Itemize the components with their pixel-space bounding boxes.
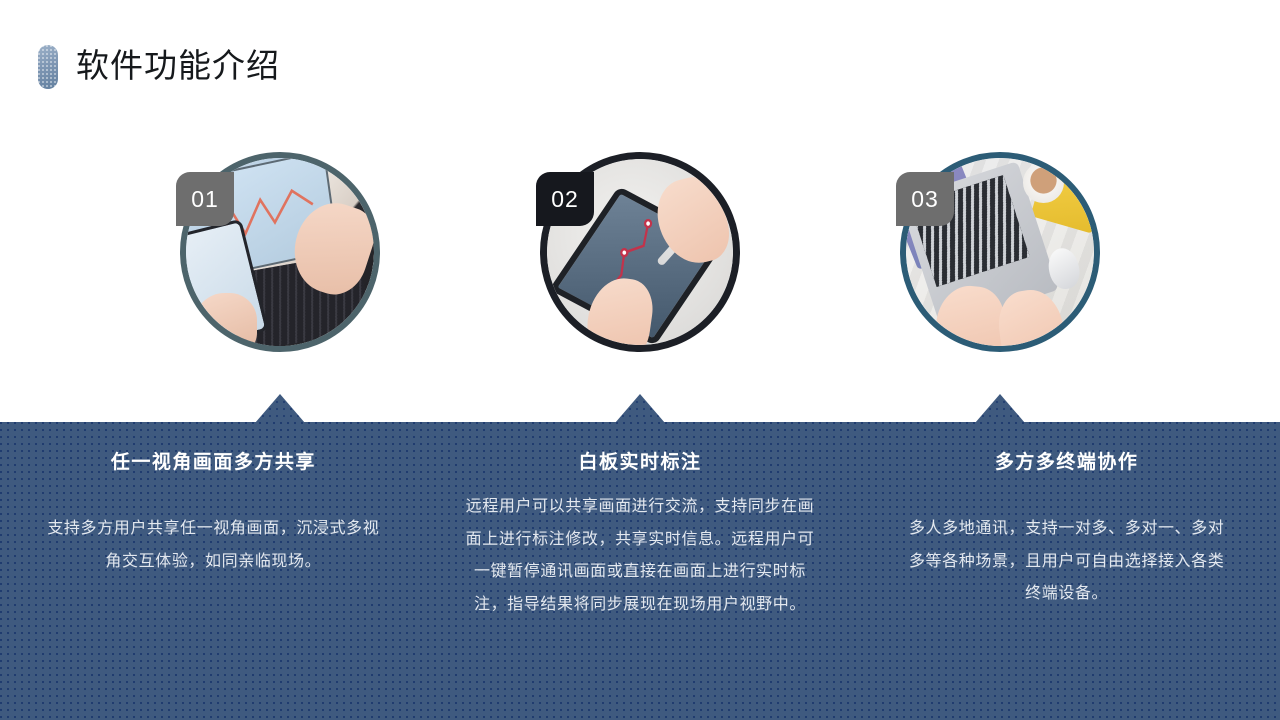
- feature-number-badge-02: 02: [536, 172, 594, 226]
- feature-body-03: 多人多地通讯，支持一对多、多对一、多对多等各种场景，且用户可自由选择接入各类终端…: [887, 513, 1246, 611]
- panel-notch-02: [615, 394, 665, 423]
- feature-circle-01[interactable]: 01: [180, 152, 380, 352]
- feature-description-columns: 任一视角画面多方共享 支持多方用户共享任一视角画面，沉浸式多视角交互体验，如同亲…: [0, 422, 1280, 720]
- feature-title-02: 白板实时标注: [461, 452, 820, 475]
- feature-description-02: 白板实时标注 远程用户可以共享画面进行交流，支持同步在画面上进行标注修改，共享实…: [427, 422, 854, 720]
- feature-description-03: 多方多终端协作 多人多地通讯，支持一对多、多对一、多对多等各种场景，且用户可自由…: [853, 422, 1280, 720]
- feature-body-01: 支持多方用户共享任一视角画面，沉浸式多视角交互体验，如同亲临现场。: [34, 513, 393, 579]
- panel-notch-01: [255, 394, 305, 423]
- feature-image-row: 01 02: [0, 0, 1280, 400]
- feature-description-panel: 任一视角画面多方共享 支持多方用户共享任一视角画面，沉浸式多视角交互体验，如同亲…: [0, 422, 1280, 720]
- feature-title-01: 任一视角画面多方共享: [34, 452, 393, 475]
- feature-body-02: 远程用户可以共享画面进行交流，支持同步在画面上进行标注修改，共享实时信息。远程用…: [461, 491, 820, 622]
- feature-title-03: 多方多终端协作: [887, 452, 1246, 475]
- feature-circle-03[interactable]: 03: [900, 152, 1100, 352]
- panel-notch-03: [975, 394, 1025, 423]
- feature-number-badge-01: 01: [176, 172, 234, 226]
- feature-number-badge-03: 03: [896, 172, 954, 226]
- feature-description-01: 任一视角画面多方共享 支持多方用户共享任一视角画面，沉浸式多视角交互体验，如同亲…: [0, 422, 427, 720]
- feature-circle-02[interactable]: 02: [540, 152, 740, 352]
